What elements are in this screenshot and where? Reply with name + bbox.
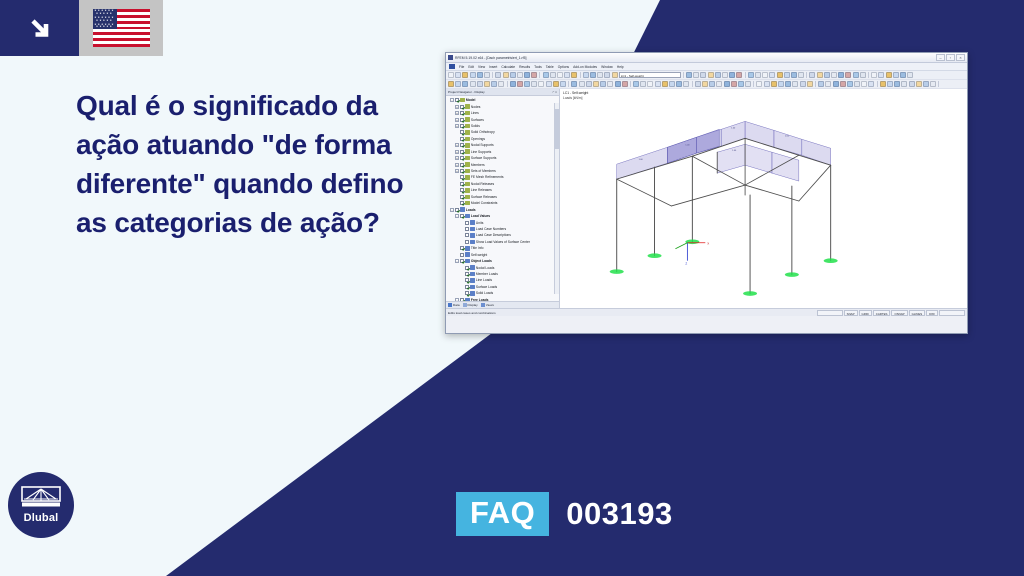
toolbar-button[interactable] [579, 81, 585, 87]
toolbar-button[interactable] [838, 72, 844, 78]
toolbar-button[interactable] [792, 81, 798, 87]
toolbar-button[interactable] [708, 72, 714, 78]
truss-bridge-icon [21, 486, 61, 510]
menu-table[interactable]: Table [546, 65, 554, 69]
tree-item-label: Nodal Releases [471, 182, 494, 186]
tree-item-checkbox[interactable] [465, 266, 469, 270]
coordinate-axis-triad: X Z [675, 241, 709, 265]
toolbar-button[interactable] [462, 72, 468, 78]
toolbar-button[interactable] [731, 81, 737, 87]
toolbar-button[interactable] [764, 81, 770, 87]
toolbar-button[interactable] [871, 72, 877, 78]
toolbar-button[interactable] [845, 72, 851, 78]
toolbar-button[interactable] [524, 81, 530, 87]
tree-item-checkbox[interactable] [460, 124, 464, 128]
minimize-button[interactable]: – [936, 54, 945, 61]
toolbar-button[interactable] [571, 81, 577, 87]
toolbar-button[interactable] [693, 72, 699, 78]
toolbar-button[interactable] [791, 72, 797, 78]
tree-item-checkbox[interactable] [460, 105, 464, 109]
toolbar-button[interactable] [809, 72, 815, 78]
toolbar-button[interactable] [861, 81, 867, 87]
toolbar-button[interactable] [840, 81, 846, 87]
model-viewport[interactable]: LC1 - Self-weight Loads [kN/m] [560, 89, 967, 308]
toolbar-button[interactable] [878, 72, 884, 78]
status-blank-cell-2 [939, 310, 965, 316]
tree-expander-placeholder [455, 182, 459, 186]
toolbar-button[interactable] [901, 81, 907, 87]
project-navigator-panel[interactable]: Project Navigator - Display ⌐ × -Model+N… [446, 89, 560, 308]
toolbar-button[interactable] [607, 81, 613, 87]
toolbar-button[interactable] [590, 72, 596, 78]
tree-item-icon [470, 272, 475, 277]
tree-expander-placeholder [460, 233, 464, 237]
toolbar-button[interactable] [748, 72, 754, 78]
tree-item-label: Model Constraints [471, 201, 498, 205]
toolbar-button[interactable] [583, 72, 589, 78]
menu-edit[interactable]: Edit [468, 65, 474, 69]
toolbar-button[interactable] [622, 81, 628, 87]
close-button[interactable]: × [956, 54, 965, 61]
tree-expander-placeholder [460, 285, 464, 289]
toolbar-button[interactable] [615, 81, 621, 87]
tree-item-label: Title Info [471, 246, 484, 250]
tree-item-checkbox[interactable] [460, 253, 464, 257]
tree-expand-icon[interactable]: + [455, 150, 459, 154]
toolbar-button[interactable] [736, 72, 742, 78]
toolbar-button[interactable] [722, 72, 728, 78]
tree-item-checkbox[interactable] [465, 227, 469, 231]
toolbar-button[interactable] [495, 72, 501, 78]
toolbar-button[interactable] [755, 72, 761, 78]
toolbar-button[interactable] [510, 72, 516, 78]
tree-item-checkbox[interactable] [465, 221, 469, 225]
navigator-title: Project Navigator - Display [448, 90, 485, 94]
tree-item-checkbox[interactable] [460, 169, 464, 173]
tree-item-label: Units [476, 221, 484, 225]
toolbar-button[interactable] [647, 81, 653, 87]
toolbar-button[interactable] [669, 81, 675, 87]
tree-item-icon [465, 137, 470, 142]
tree-item-icon [470, 285, 475, 290]
toolbar-button[interactable] [923, 81, 929, 87]
toolbar-button[interactable] [543, 72, 549, 78]
toolbar-button[interactable] [517, 72, 523, 78]
toolbar-button[interactable] [553, 81, 559, 87]
tree-item-icon [465, 252, 470, 257]
navigator-pin-close-icons[interactable]: ⌐ × [553, 90, 557, 94]
tree-item-label: Surface Releases [471, 195, 497, 199]
tree-item-label: Surface Loads [476, 285, 497, 289]
tree-expander-placeholder [455, 175, 459, 179]
toolbar-button[interactable] [745, 81, 751, 87]
window-title: RFEM 5.19.02 x64 - [Dach parametrisiert_… [455, 56, 935, 60]
menu-calculate[interactable]: Calculate [501, 65, 515, 69]
tree-item-icon [465, 143, 470, 148]
tree-expand-icon[interactable]: + [455, 143, 459, 147]
status-grid[interactable]: GRID [859, 310, 872, 316]
toolbar-separator [753, 81, 754, 87]
navigator-tree[interactable]: -Model+Nodes+Lines+Surfaces+SolidsSolid … [446, 96, 559, 301]
toolbar-button[interactable] [560, 81, 566, 87]
toolbar-button[interactable] [893, 72, 899, 78]
toolbar-button[interactable] [784, 72, 790, 78]
toolbar-button[interactable] [564, 72, 570, 78]
load-case-combobox[interactable]: LC1 - Self-weight [619, 72, 681, 78]
toolbar-button[interactable] [818, 81, 824, 87]
tree-collapse-icon[interactable]: - [455, 214, 459, 218]
tree-expander-placeholder [460, 291, 464, 295]
tree-item-checkbox[interactable] [460, 182, 464, 186]
toolbar-button[interactable] [807, 81, 813, 87]
status-osnap[interactable]: OSNAP [891, 310, 907, 316]
tree-item-icon [465, 175, 470, 180]
svg-text:Z: Z [685, 262, 687, 266]
tree-expand-icon[interactable]: + [455, 169, 459, 173]
toolbar-button[interactable] [550, 72, 556, 78]
work-area: Project Navigator - Display ⌐ × -Model+N… [446, 89, 967, 308]
tree-item-label: Model [466, 98, 476, 102]
toolbar-button[interactable] [769, 72, 775, 78]
tree-item-checkbox[interactable] [455, 208, 459, 212]
tree-item-icon [465, 104, 470, 109]
toolbar-button[interactable] [930, 81, 936, 87]
toolbar-button[interactable] [455, 81, 461, 87]
tree-expand-icon[interactable]: + [455, 105, 459, 109]
status-blank-cell [817, 310, 843, 316]
toolbar-separator [815, 81, 816, 87]
toolbar-button[interactable] [907, 72, 913, 78]
toolbar-button[interactable] [503, 72, 509, 78]
menu-addon-modules[interactable]: Add-on Modules [573, 65, 597, 69]
toolbar-button[interactable] [756, 81, 762, 87]
toolbar-button[interactable] [538, 81, 544, 87]
menu-view[interactable]: View [478, 65, 485, 69]
toolbar-button[interactable] [909, 81, 915, 87]
dlubal-wordmark: Dlubal [24, 512, 59, 524]
toolbar-separator [568, 81, 569, 87]
tree-item-icon [465, 162, 470, 167]
toolbar-button[interactable] [676, 81, 682, 87]
tree-item-checkbox[interactable] [460, 111, 464, 115]
toolbar-button[interactable] [477, 81, 483, 87]
toolbar-button[interactable] [715, 72, 721, 78]
tree-item-label: Line Releases [471, 188, 492, 192]
status-snap[interactable]: SNAP [844, 310, 858, 316]
toolbar-button[interactable] [448, 81, 454, 87]
tree-item-icon [465, 246, 470, 251]
toolbar-button[interactable] [600, 81, 606, 87]
toolbar-button[interactable] [484, 81, 490, 87]
tree-item[interactable]: -Free Loads [447, 297, 559, 301]
tree-expand-icon[interactable]: + [455, 124, 459, 128]
arrow-down-right-icon [0, 0, 79, 56]
tree-collapse-icon[interactable]: - [450, 208, 454, 212]
tree-item-label: Load Values [471, 214, 490, 218]
tree-item-label: Solids [471, 124, 480, 128]
toolbar-button[interactable] [854, 81, 860, 87]
tree-item-label: Openings [471, 137, 485, 141]
toolbar-button[interactable] [524, 72, 530, 78]
tab-display[interactable]: Display [463, 303, 478, 307]
toolbar-separator [877, 81, 878, 87]
tab-views-label: Views [486, 303, 494, 307]
toolbar-button[interactable] [517, 81, 523, 87]
toolbar-button[interactable] [700, 72, 706, 78]
us-flag-icon: ★★★★★★ ★★★★★ ★★★★★★ ★★★★★ ★★★★★★ ★★★★★ [79, 0, 163, 56]
tree-expander-placeholder [460, 221, 464, 225]
tree-expander-placeholder [460, 227, 464, 231]
status-bar: Edits load cases and combinations SNAP G… [446, 308, 967, 316]
menu-tools[interactable]: Tools [534, 65, 542, 69]
toolbar-button[interactable] [498, 81, 504, 87]
tree-item-checkbox[interactable] [460, 201, 464, 205]
toolbar-button[interactable] [824, 72, 830, 78]
tree-expander-placeholder [455, 253, 459, 257]
toolbar-button[interactable] [886, 72, 892, 78]
tree-expander-placeholder [455, 246, 459, 250]
tree-item-icon [465, 298, 470, 301]
toolbar-button[interactable] [448, 72, 454, 78]
toolbar-separator [507, 81, 508, 87]
toolbar-button[interactable] [729, 72, 735, 78]
toolbar-button[interactable] [831, 72, 837, 78]
toolbar-button[interactable] [686, 72, 692, 78]
tree-item-label: Sets of Members [471, 169, 496, 173]
tree-expand-icon[interactable]: + [455, 156, 459, 160]
toolbar-button[interactable] [571, 72, 577, 78]
faq-tag-label: FAQ [456, 492, 549, 536]
toolbar-button[interactable] [612, 72, 618, 78]
toolbar-separator [938, 81, 939, 87]
toolbar-button[interactable] [825, 81, 831, 87]
tree-expander-placeholder [455, 137, 459, 141]
tree-item-checkbox[interactable] [460, 298, 464, 301]
svg-text:X: X [707, 241, 709, 245]
toolbar-button[interactable] [484, 72, 490, 78]
toolbar-button[interactable] [597, 72, 603, 78]
toolbar-button[interactable] [868, 81, 874, 87]
app-icon [448, 55, 453, 60]
toolbar-button[interactable] [800, 81, 806, 87]
navigator-tabs[interactable]: Data Display Views [446, 301, 559, 308]
toolbar-button[interactable] [640, 81, 646, 87]
toolbar-button[interactable] [880, 81, 886, 87]
tree-expander-placeholder [460, 240, 464, 244]
tree-item-checkbox[interactable] [460, 143, 464, 147]
tree-item-label: Object Loads [471, 259, 492, 263]
tree-scroll-thumb[interactable] [555, 109, 559, 149]
toolbar-button[interactable] [817, 72, 823, 78]
toolbar-button[interactable] [860, 72, 866, 78]
toolbar-button[interactable] [604, 72, 610, 78]
toolbar-separator [692, 81, 693, 87]
tree-item-checkbox[interactable] [460, 156, 464, 160]
toolbar-button[interactable] [894, 81, 900, 87]
faq-badge: FAQ 003193 [456, 492, 673, 536]
toolbar-button[interactable] [853, 72, 859, 78]
tree-item-label: Show Load Values of Surface Center [476, 240, 530, 244]
rfem-application-window[interactable]: RFEM 5.19.02 x64 - [Dach parametrisiert_… [445, 52, 968, 334]
tree-item-label: Members [471, 163, 485, 167]
toolbar-button[interactable] [771, 81, 777, 87]
toolbar-separator [745, 72, 746, 78]
status-glines[interactable]: GLINES [909, 310, 926, 316]
toolbar-button[interactable] [655, 81, 661, 87]
structural-model-3d[interactable]: X Z 1.00 1.00 1.00 1.00 1.00 [560, 89, 967, 308]
status-cartes[interactable]: CARTES [873, 310, 891, 316]
tree-item-icon [470, 291, 475, 296]
tree-item-label: Line Supports [471, 150, 491, 154]
tree-item-checkbox[interactable] [460, 195, 464, 199]
toolbar-button[interactable] [695, 81, 701, 87]
toolbar-button[interactable] [762, 72, 768, 78]
tree-item-checkbox[interactable] [460, 137, 464, 141]
tree-expand-icon[interactable]: + [455, 118, 459, 122]
tree-item-icon [465, 117, 470, 122]
status-dxf[interactable]: DXF [926, 310, 938, 316]
nodal-supports [610, 239, 838, 295]
toolbar-button[interactable] [593, 81, 599, 87]
toolbar-button[interactable] [557, 72, 563, 78]
toolbar-button[interactable] [785, 81, 791, 87]
tree-expander-placeholder [455, 130, 459, 134]
maximize-button[interactable]: ▫ [946, 54, 955, 61]
tree-item-checkbox[interactable] [460, 130, 464, 134]
tree-item-icon [470, 220, 475, 225]
toolbar-separator [492, 72, 493, 78]
tree-item-icon [465, 195, 470, 200]
toolbar-button[interactable] [586, 81, 592, 87]
tree-item-checkbox[interactable] [465, 278, 469, 282]
toolbar-button[interactable] [531, 72, 537, 78]
menu-app-badge [449, 64, 455, 69]
toolbar-button[interactable] [477, 72, 483, 78]
menu-help[interactable]: Help [617, 65, 624, 69]
menu-insert[interactable]: Insert [489, 65, 497, 69]
toolbar-button[interactable] [777, 72, 783, 78]
tree-item-checkbox[interactable] [460, 150, 464, 154]
menu-options[interactable]: Options [558, 65, 569, 69]
toolbar-button[interactable] [847, 81, 853, 87]
tree-item-checkbox[interactable] [460, 259, 464, 263]
window-titlebar[interactable]: RFEM 5.19.02 x64 - [Dach parametrisiert_… [446, 53, 967, 63]
tree-item-label: Free Loads [471, 298, 489, 301]
toolbar-button[interactable] [900, 72, 906, 78]
tree-item-icon [465, 169, 470, 174]
tree-expander-placeholder [460, 266, 464, 270]
menu-window[interactable]: Window [601, 65, 613, 69]
tree-scrollbar[interactable] [554, 103, 559, 294]
tree-item-checkbox[interactable] [460, 188, 464, 192]
toolbar-button[interactable] [455, 72, 461, 78]
tree-expand-icon[interactable]: + [455, 163, 459, 167]
toolbar-button[interactable] [491, 81, 497, 87]
menu-file[interactable]: File [459, 65, 464, 69]
tree-item-checkbox[interactable] [465, 285, 469, 289]
toolbar-button[interactable] [470, 72, 476, 78]
toolbar-button[interactable] [887, 81, 893, 87]
tree-item-label: Surfaces [471, 118, 484, 122]
tree-item-label: Load Case Descriptions [476, 233, 511, 237]
toolbar-button[interactable] [662, 81, 668, 87]
tree-item-label: Load Case Numbers [476, 227, 506, 231]
tree-expand-icon[interactable]: + [455, 111, 459, 115]
tree-item-checkbox[interactable] [465, 291, 469, 295]
tree-item-checkbox[interactable] [465, 240, 469, 244]
tab-data[interactable]: Data [448, 303, 460, 307]
toolbar-button[interactable] [709, 81, 715, 87]
tree-item-checkbox[interactable] [460, 246, 464, 250]
tree-item-icon [470, 227, 475, 232]
toolbar-button[interactable] [833, 81, 839, 87]
tree-item-label: Solid Loads [476, 291, 493, 295]
toolbar-button[interactable] [470, 81, 476, 87]
tab-views[interactable]: Views [481, 303, 494, 307]
tree-item-icon [465, 182, 470, 187]
tree-item-checkbox[interactable] [460, 118, 464, 122]
toolbar-separator [868, 72, 869, 78]
menu-results[interactable]: Results [519, 65, 530, 69]
toolbar-separator [806, 72, 807, 78]
tree-item-icon [470, 233, 475, 238]
toolbar-button[interactable] [633, 81, 639, 87]
tree-collapse-icon[interactable]: - [455, 259, 459, 263]
tree-item-label: Surface Supports [471, 156, 496, 160]
tree-item-checkbox[interactable] [465, 272, 469, 276]
tree-item-icon [465, 188, 470, 193]
toolbar-button[interactable] [510, 81, 516, 87]
menu-bar[interactable]: File Edit View Insert Calculate Results … [446, 63, 967, 71]
toolbar-button[interactable] [738, 81, 744, 87]
toolbar-button[interactable] [546, 81, 552, 87]
tree-item-icon [465, 130, 470, 135]
tree-item-icon [465, 149, 470, 154]
toolbar-button[interactable] [683, 81, 689, 87]
tree-collapse-icon[interactable]: - [450, 98, 454, 102]
tree-expander-placeholder [455, 201, 459, 205]
toolbar-button[interactable] [702, 81, 708, 87]
toolbar-button[interactable] [798, 72, 804, 78]
tree-item-checkbox[interactable] [455, 98, 459, 102]
toolbar-button[interactable] [531, 81, 537, 87]
toolbar-button[interactable] [716, 81, 722, 87]
tree-item-label: Lines [471, 111, 479, 115]
tree-collapse-icon[interactable]: - [455, 298, 459, 301]
toolbar-button[interactable] [916, 81, 922, 87]
toolbar-separator [580, 72, 581, 78]
tree-expander-placeholder [460, 272, 464, 276]
tab-display-label: Display [468, 303, 478, 307]
main-toolbar[interactable]: LC1 - Self-weight [446, 71, 967, 80]
tree-item-label: Self-weight [471, 253, 487, 257]
tree-item-checkbox[interactable] [460, 175, 464, 179]
tree-item-icon [470, 278, 475, 283]
toolbar-button[interactable] [462, 81, 468, 87]
tree-item-checkbox[interactable] [460, 163, 464, 167]
tree-item-icon [465, 124, 470, 129]
toolbar-button[interactable] [778, 81, 784, 87]
tree-item-label: Nodal Supports [471, 143, 494, 147]
tree-item-checkbox[interactable] [465, 233, 469, 237]
secondary-toolbar[interactable] [446, 80, 967, 89]
tab-data-label: Data [453, 303, 460, 307]
tree-expander-placeholder [455, 188, 459, 192]
toolbar-separator [539, 72, 540, 78]
toolbar-button[interactable] [724, 81, 730, 87]
tree-item-label: Line Loads [476, 278, 492, 282]
tree-item-checkbox[interactable] [460, 214, 464, 218]
